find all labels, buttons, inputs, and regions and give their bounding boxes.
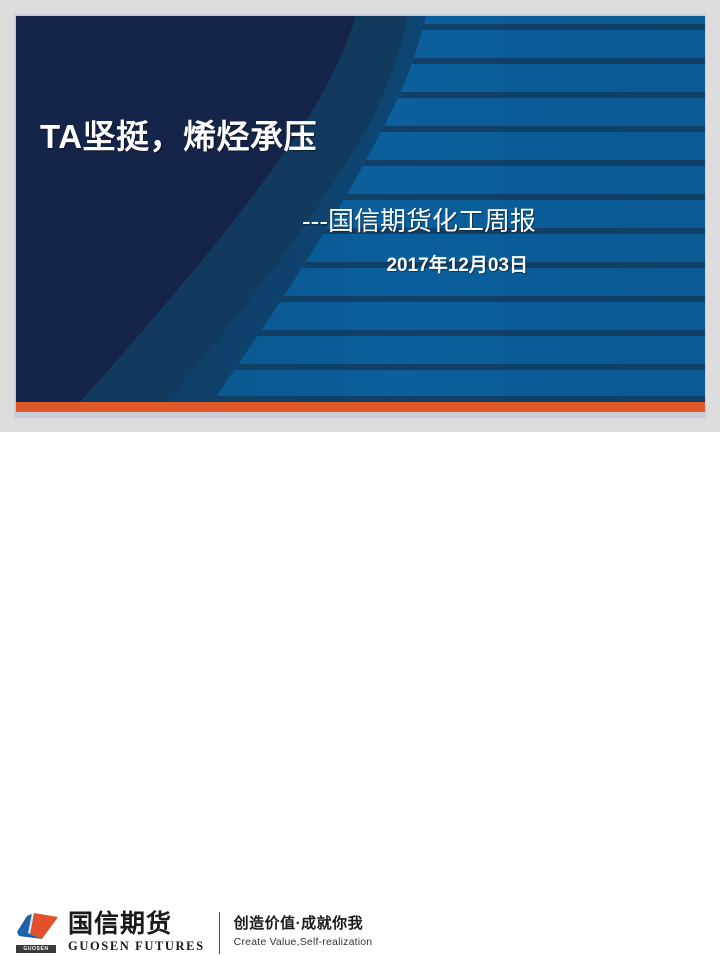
slide-date: 2017年12月03日 (16, 250, 528, 277)
brand-logo-lockup: GUOSEN 国信期货 GUOSEN FUTURES 创造价值·成就你我 Cre… (14, 910, 372, 956)
orange-accent-bar (16, 402, 705, 412)
guosen-badge-label: GUOSEN (23, 945, 48, 953)
brand-name-cn: 国信期货 (68, 910, 205, 938)
brand-name-en: GUOSEN FUTURES (68, 939, 205, 953)
brand-wordmark: 国信期货 GUOSEN FUTURES (68, 910, 205, 953)
tagline-cn: 创造价值·成就你我 (234, 914, 373, 934)
guosen-badge: GUOSEN (16, 945, 56, 953)
title-hero-panel: TA坚挺，烯烃承压 ---国信期货化工周报 2017年12月03日 (16, 16, 705, 402)
brand-tagline: 创造价值·成就你我 Create Value,Self-realization (234, 910, 373, 949)
slide-subtitle: ---国信期货化工周报 (16, 201, 536, 238)
diamond-mark-icon (14, 910, 62, 946)
footer-bar: GUOSEN 国信期货 GUOSEN FUTURES 创造价值·成就你我 Cre… (0, 432, 720, 540)
guosen-logo-icon: GUOSEN (14, 910, 62, 954)
page-title: TA坚挺，烯烃承压 (40, 110, 317, 158)
logo-divider (219, 912, 220, 954)
title-text-block: TA坚挺，烯烃承压 ---国信期货化工周报 2017年12月03日 (16, 16, 705, 402)
tagline-en: Create Value,Self-realization (234, 935, 373, 949)
slide-root: TA坚挺，烯烃承压 ---国信期货化工周报 2017年12月03日 (0, 0, 720, 540)
